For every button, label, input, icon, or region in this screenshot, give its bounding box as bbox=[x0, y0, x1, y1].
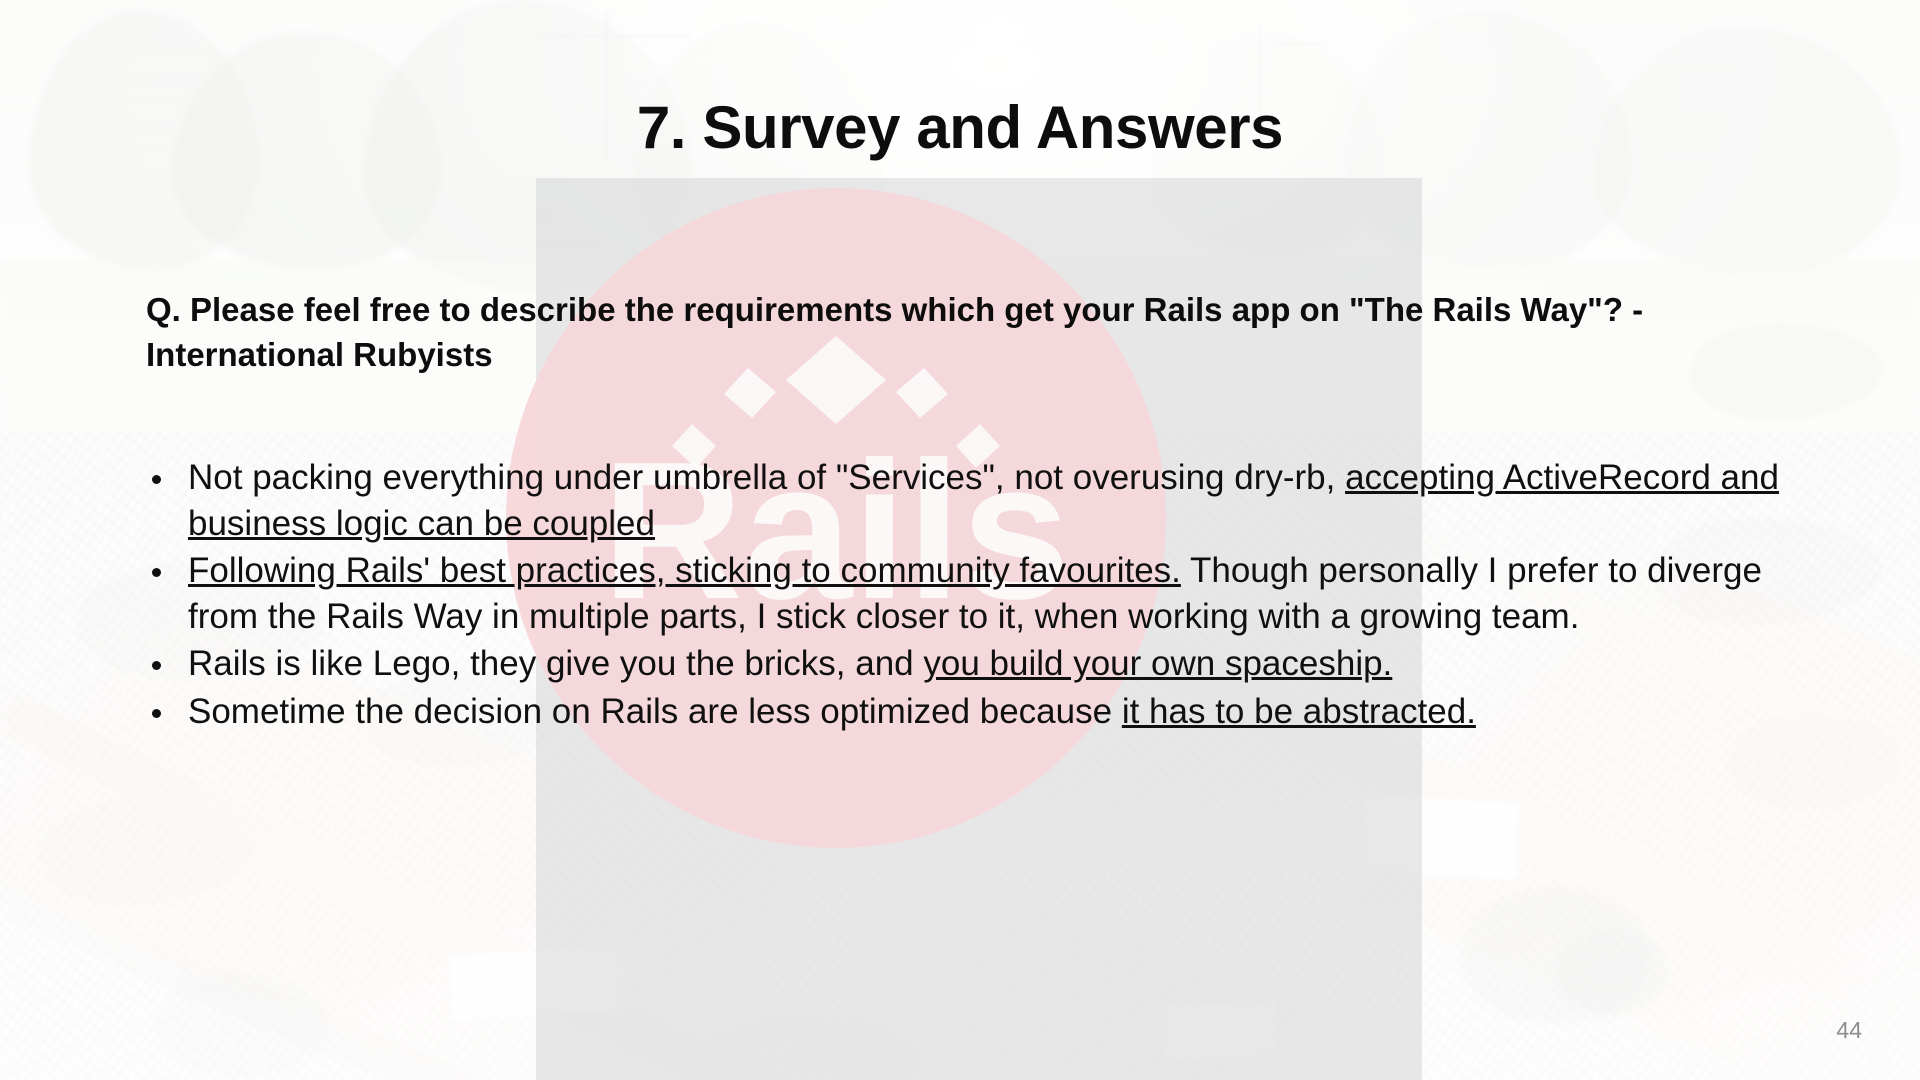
bullet-dot-icon bbox=[152, 709, 161, 718]
bullet-text-underlined: it has to be abstracted. bbox=[1122, 692, 1476, 731]
answer-bullet: Sometime the decision on Rails are less … bbox=[146, 689, 1806, 735]
survey-question: Q. Please feel free to describe the requ… bbox=[146, 288, 1786, 378]
answer-bullet: Not packing everything under umbrella of… bbox=[146, 455, 1806, 546]
bullet-text: Sometime the decision on Rails are less … bbox=[188, 692, 1122, 731]
bullet-text: Rails is like Lego, they give you the br… bbox=[188, 644, 923, 683]
bullet-dot-icon bbox=[152, 475, 161, 484]
slide-page-number: 44 bbox=[1836, 1017, 1862, 1044]
answer-list: Not packing everything under umbrella of… bbox=[146, 455, 1806, 736]
answer-bullet: Following Rails' best practices, stickin… bbox=[146, 548, 1806, 639]
page-title: 7. Survey and Answers bbox=[0, 96, 1920, 161]
bullet-dot-icon bbox=[152, 661, 161, 670]
answer-bullet: Rails is like Lego, they give you the br… bbox=[146, 641, 1806, 687]
bullet-text: Not packing everything under umbrella of… bbox=[188, 458, 1345, 497]
bullet-text-underlined: you build your own spaceship. bbox=[923, 644, 1392, 683]
bullet-text-underlined: Following Rails' best practices, stickin… bbox=[188, 551, 1181, 590]
bullet-dot-icon bbox=[152, 568, 161, 577]
slide-content: 7. Survey and Answers Q. Please feel fre… bbox=[0, 0, 1920, 1080]
presentation-slide: Rails 7. Survey and Answers Q. Please fe… bbox=[0, 0, 1920, 1080]
